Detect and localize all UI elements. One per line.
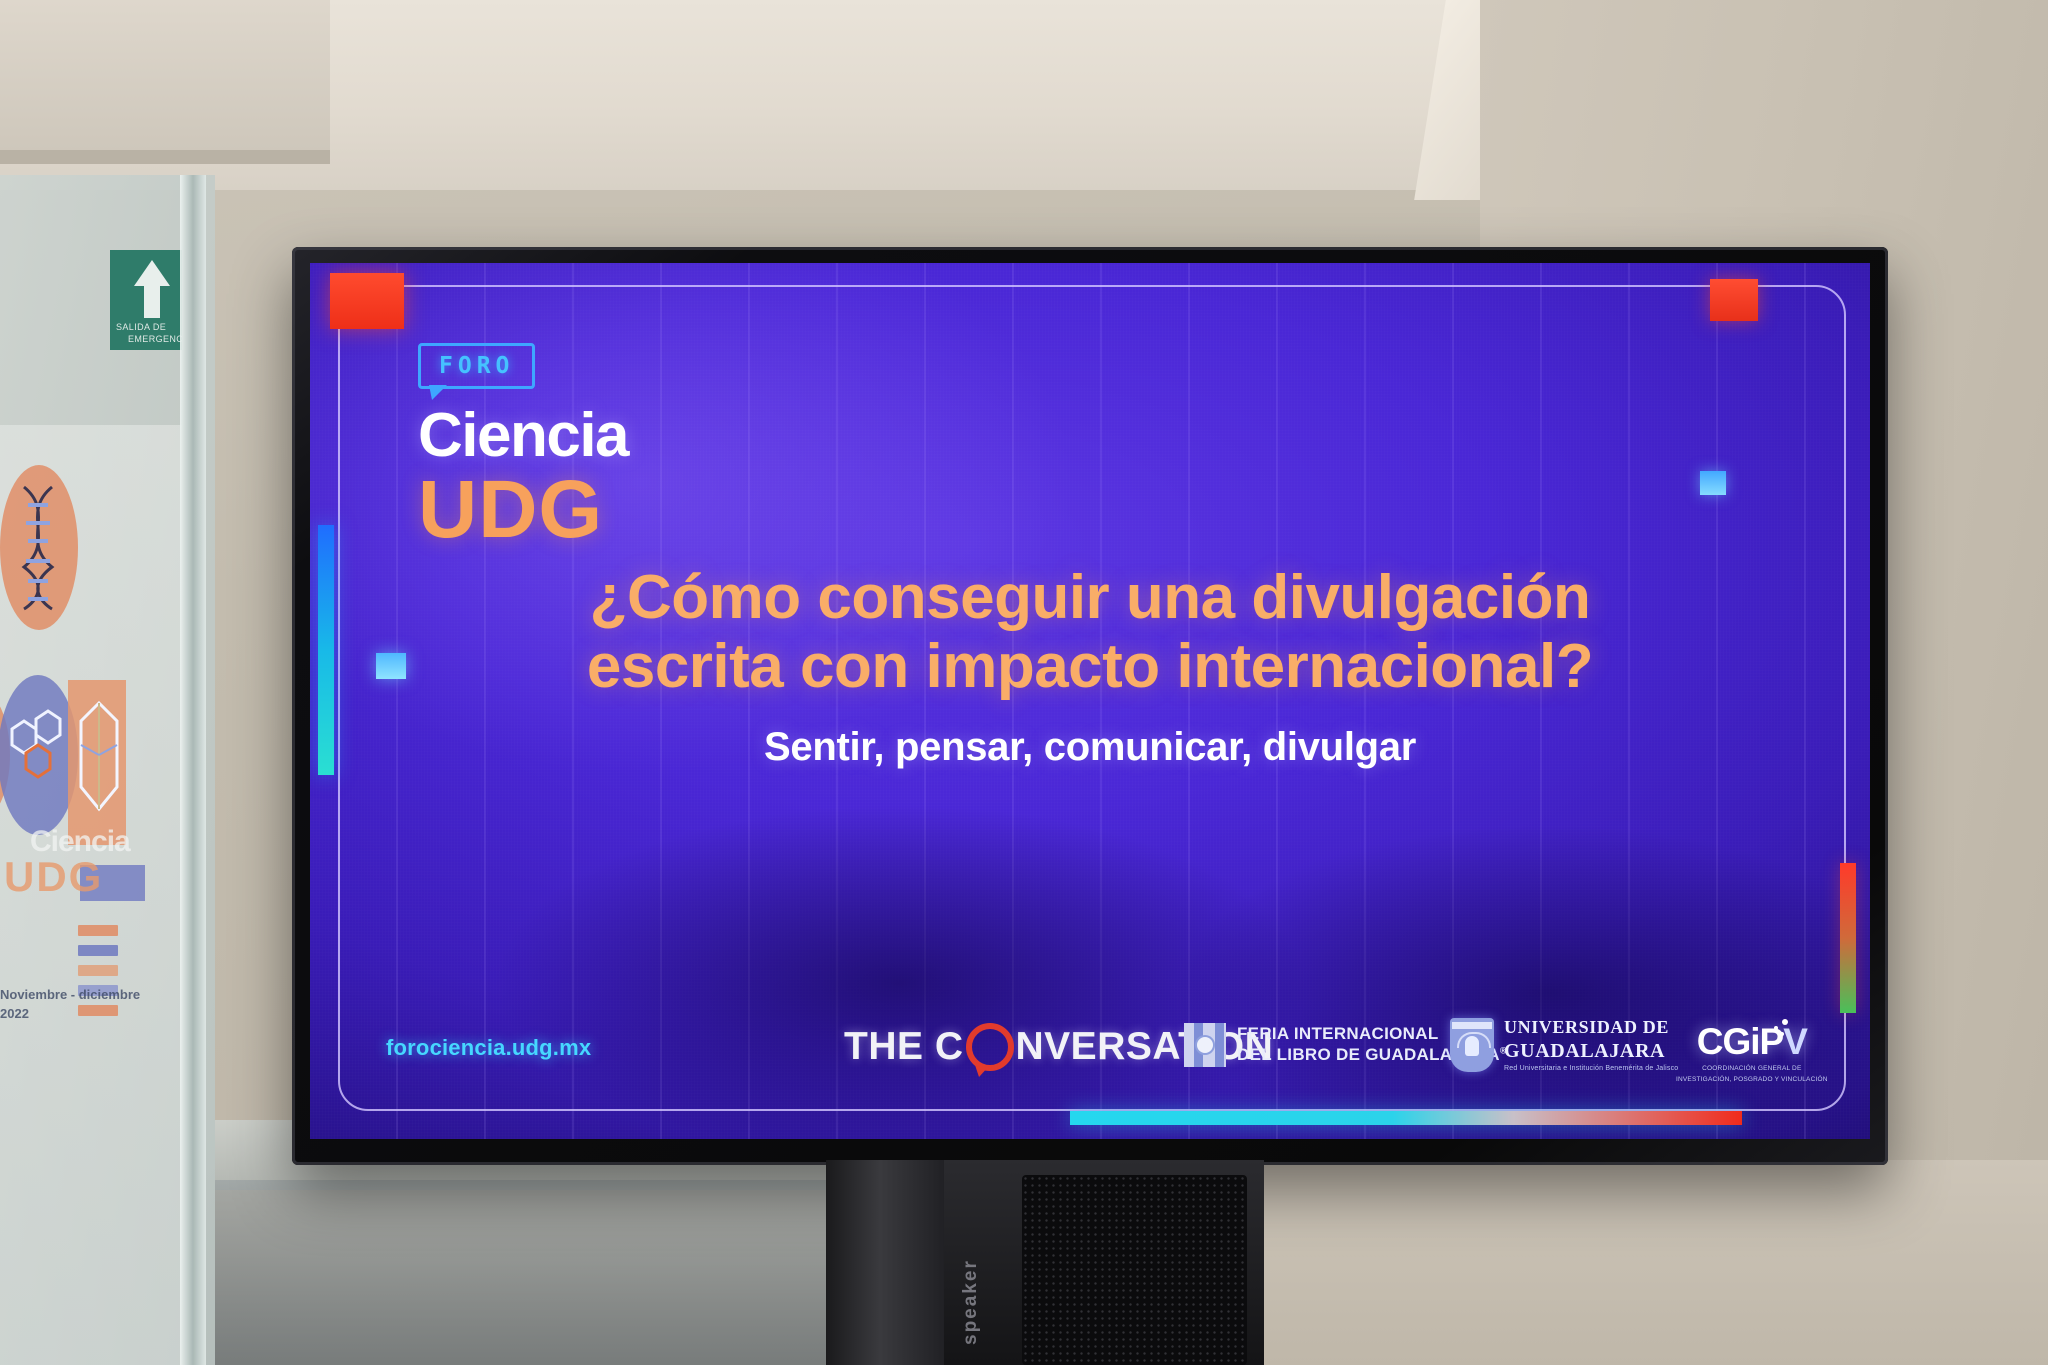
fil-book-icon: [1184, 1023, 1226, 1067]
soffit-edge: [0, 150, 330, 164]
cube-icon: [78, 697, 120, 817]
udg-line-3: Red Universitaria e Institución Beneméri…: [1504, 1065, 1678, 1073]
photo-scene: SALIDA DE EMERGENCIA: [0, 0, 2048, 1365]
foro-badge-label: FORO: [439, 353, 514, 379]
exit-sign-line2: EMERGENCIA: [128, 334, 182, 344]
slide-title-line-2: escrita con impacto internacional?: [370, 632, 1810, 701]
tv-screen: FORO Ciencia UDG ¿Cómo conseguir una div…: [310, 263, 1870, 1139]
speech-bubble-o-icon: [966, 1023, 1014, 1071]
accent-square-red-top-right: [1710, 279, 1758, 321]
udg-logo-text: UNIVERSIDAD DE GUADALAJARA Red Universit…: [1504, 1017, 1678, 1073]
accent-bar-bottom-gradient: [1070, 1111, 1742, 1125]
the-conversation-pre: THE C: [844, 1025, 964, 1069]
logo-word-udg: UDG: [418, 469, 748, 551]
cgipv-sub-2: INVESTIGACIÓN, POSGRADO Y VINCULACIÓN: [1676, 1075, 1828, 1085]
vitrine-glass-edge: [180, 175, 206, 1365]
dna-helix-icon: [12, 483, 64, 613]
foro-badge: FORO: [418, 343, 535, 389]
emergency-exit-sign: SALIDA DE EMERGENCIA: [110, 250, 182, 350]
cgipv-wordmark: CGiPV: [1697, 1021, 1807, 1063]
accent-bar-left-gradient: [318, 525, 334, 775]
footer-url: forociencia.udg.mx: [386, 1035, 591, 1061]
poster-caption: Noviembre - diciembre 2022: [0, 985, 150, 1023]
room-wall-lower-right: [1264, 1160, 2048, 1365]
poster-word-udg: UDG: [4, 853, 103, 901]
slide-title-line-1: ¿Cómo conseguir una divulgación: [370, 563, 1810, 632]
slide-footer: forociencia.udg.mx THE C NVERSATION FERI…: [310, 1005, 1870, 1095]
exit-arrow-stem: [144, 284, 160, 318]
slide-subtitle: Sentir, pensar, comunicar, divulgar: [370, 725, 1810, 770]
slide-title: ¿Cómo conseguir una divulgación escrita …: [370, 563, 1810, 702]
foro-ciencia-udg-logo: FORO Ciencia UDG: [418, 343, 748, 551]
vitrine-contents: SALIDA DE EMERGENCIA: [0, 210, 182, 1365]
exit-sign-line1: SALIDA DE: [116, 322, 166, 332]
udg-crest-icon: [1450, 1018, 1494, 1072]
ceiling-soffit: [0, 0, 330, 160]
speech-bubble-tail-icon: [429, 385, 447, 400]
cgipv-sub-1: COORDINACIÓN GENERAL DE: [1676, 1064, 1828, 1074]
speaker-brand-label: speaker: [960, 1215, 990, 1345]
udg-line-1: UNIVERSIDAD DE: [1504, 1017, 1678, 1039]
tv-stand-column: [826, 1160, 946, 1365]
cgipv-network-dots-icon: [1782, 1019, 1788, 1025]
science-poster: Ciencia UDG Noviembre - diciembre 2022: [0, 425, 182, 1365]
molecule-hexagon-icon: [4, 693, 64, 811]
accent-square-cyan-right: [1700, 471, 1726, 495]
logo-word-ciencia: Ciencia: [418, 405, 748, 467]
speaker-grill: [1022, 1175, 1247, 1365]
cgipv-logo: CGiPV COORDINACIÓN GENERAL DE INVESTIGAC…: [1676, 1021, 1828, 1085]
udg-line-2: GUADALAJARA: [1504, 1039, 1678, 1063]
television: FORO Ciencia UDG ¿Cómo conseguir una div…: [292, 247, 1888, 1165]
accent-square-red-top-left: [330, 273, 404, 329]
cgipv-v-text: V: [1783, 1021, 1807, 1062]
accent-bar-right-gradient: [1840, 863, 1856, 1013]
floor-surface: [206, 1180, 846, 1365]
exit-arrow-icon: [134, 260, 170, 286]
cgipv-main-text: CGiP: [1697, 1021, 1783, 1062]
universidad-de-guadalajara-logo: UNIVERSIDAD DE GUADALAJARA Red Universit…: [1450, 1017, 1678, 1073]
